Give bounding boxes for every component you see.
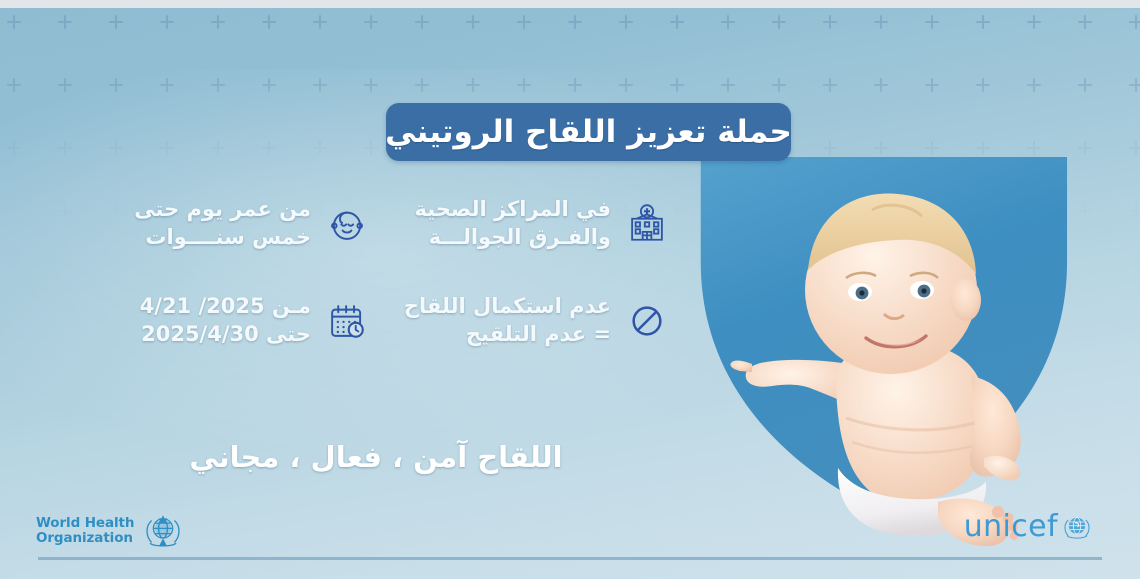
prohibition-icon xyxy=(624,298,670,344)
who-wordmark: World Health Organization xyxy=(36,516,134,545)
unicef-emblem-icon xyxy=(1062,512,1092,542)
unicef-logo: unicef xyxy=(964,512,1092,542)
feature-dates: مـن 2025/ 4/21 حتى 2025/4/30 xyxy=(108,293,370,348)
footer-divider xyxy=(38,557,1102,560)
campaign-title-banner: حملة تعزيز اللقاح الروتيني xyxy=(386,103,791,161)
feature-dates-text: مـن 2025/ 4/21 حتى 2025/4/30 xyxy=(140,293,311,348)
baby-hero-image xyxy=(686,150,1106,550)
feature-list: في المراكز الصحية والفـرق الجوالـــة xyxy=(70,196,670,391)
unicef-wordmark: unicef xyxy=(964,512,1058,542)
vaccination-campaign-poster: حملة تعزيز اللقاح الروتيني xyxy=(0,0,1140,579)
campaign-slogan: اللقاح آمن ، فعال ، مجاني xyxy=(186,440,566,474)
feature-incomplete-warning-text: عدم استكمال اللقاح = عدم التلقيح xyxy=(404,293,611,348)
hospital-icon xyxy=(624,201,670,247)
feature-row-1: في المراكز الصحية والفـرق الجوالـــة xyxy=(70,196,670,251)
feature-age-range: من عمر يوم حتى خمس سنــــوات xyxy=(108,196,370,251)
who-emblem-icon xyxy=(142,510,184,552)
calendar-clock-icon xyxy=(324,298,370,344)
feature-locations: في المراكز الصحية والفـرق الجوالـــة xyxy=(418,196,670,251)
feature-age-range-text: من عمر يوم حتى خمس سنــــوات xyxy=(134,196,311,251)
who-logo: World Health Organization xyxy=(36,510,184,552)
page-title: حملة تعزيز اللقاح الروتيني xyxy=(385,117,792,148)
feature-incomplete-warning: عدم استكمال اللقاح = عدم التلقيح xyxy=(418,293,670,348)
top-edge-strip xyxy=(0,0,1140,8)
feature-locations-text: في المراكز الصحية والفـرق الجوالـــة xyxy=(414,196,611,251)
baby-face-icon xyxy=(324,201,370,247)
feature-row-2: عدم استكمال اللقاح = عدم التلقيح xyxy=(70,293,670,348)
